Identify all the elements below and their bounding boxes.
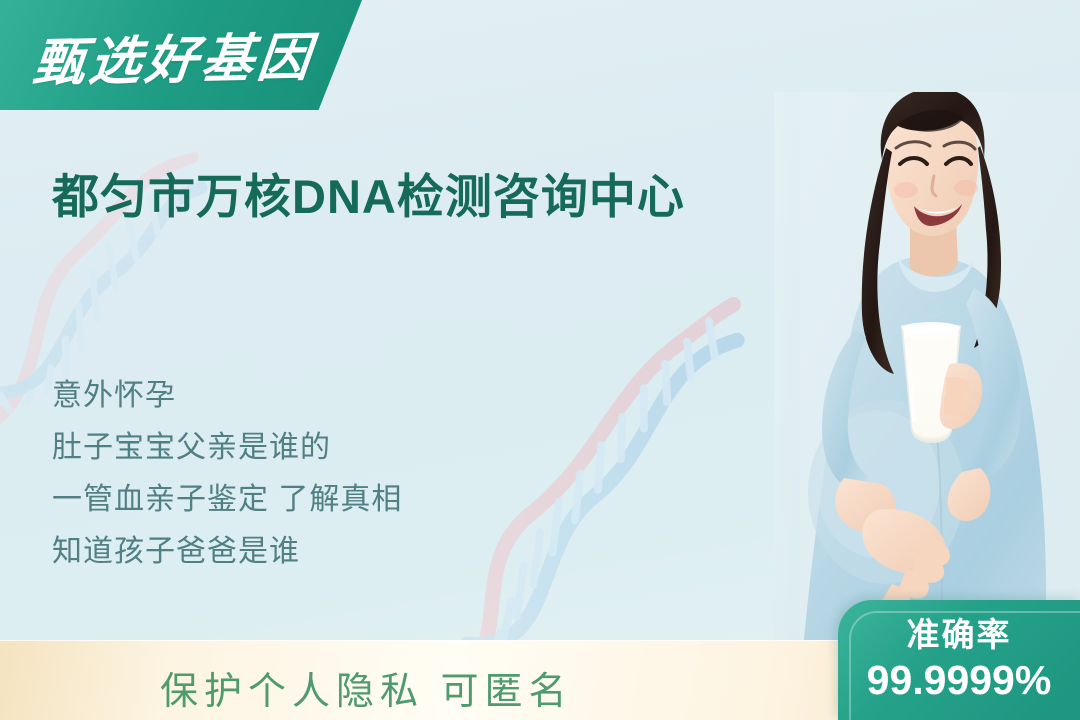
promo-copy-block: 意外怀孕 肚子宝宝父亲是谁的 一管血亲子鉴定 了解真相 知道孩子爸爸是谁 bbox=[52, 370, 402, 578]
brand-logo-plate: 甄选好基因 bbox=[0, 0, 362, 110]
dna-helix-icon bbox=[411, 284, 779, 696]
brand-logo-text: 甄选好基因 bbox=[30, 15, 318, 96]
promotional-banner: 甄选好基因 bbox=[0, 0, 1080, 720]
promo-copy-line: 肚子宝宝父亲是谁的 bbox=[52, 422, 402, 474]
accuracy-badge-content: 准确率 99.9999% bbox=[838, 614, 1080, 704]
accuracy-badge-label: 准确率 bbox=[838, 614, 1080, 656]
accuracy-badge-value: 99.9999% bbox=[838, 656, 1080, 704]
promo-copy-line: 一管血亲子鉴定 了解真相 bbox=[52, 474, 402, 526]
page-title: 都匀市万核DNA检测咨询中心 bbox=[52, 158, 685, 227]
accuracy-badge: 准确率 99.9999% bbox=[838, 600, 1080, 720]
privacy-bar-text: 保护个人隐私 可匿名 bbox=[160, 660, 573, 715]
promo-copy-line: 知道孩子爸爸是谁 bbox=[52, 526, 402, 578]
promo-copy-line: 意外怀孕 bbox=[52, 370, 402, 422]
